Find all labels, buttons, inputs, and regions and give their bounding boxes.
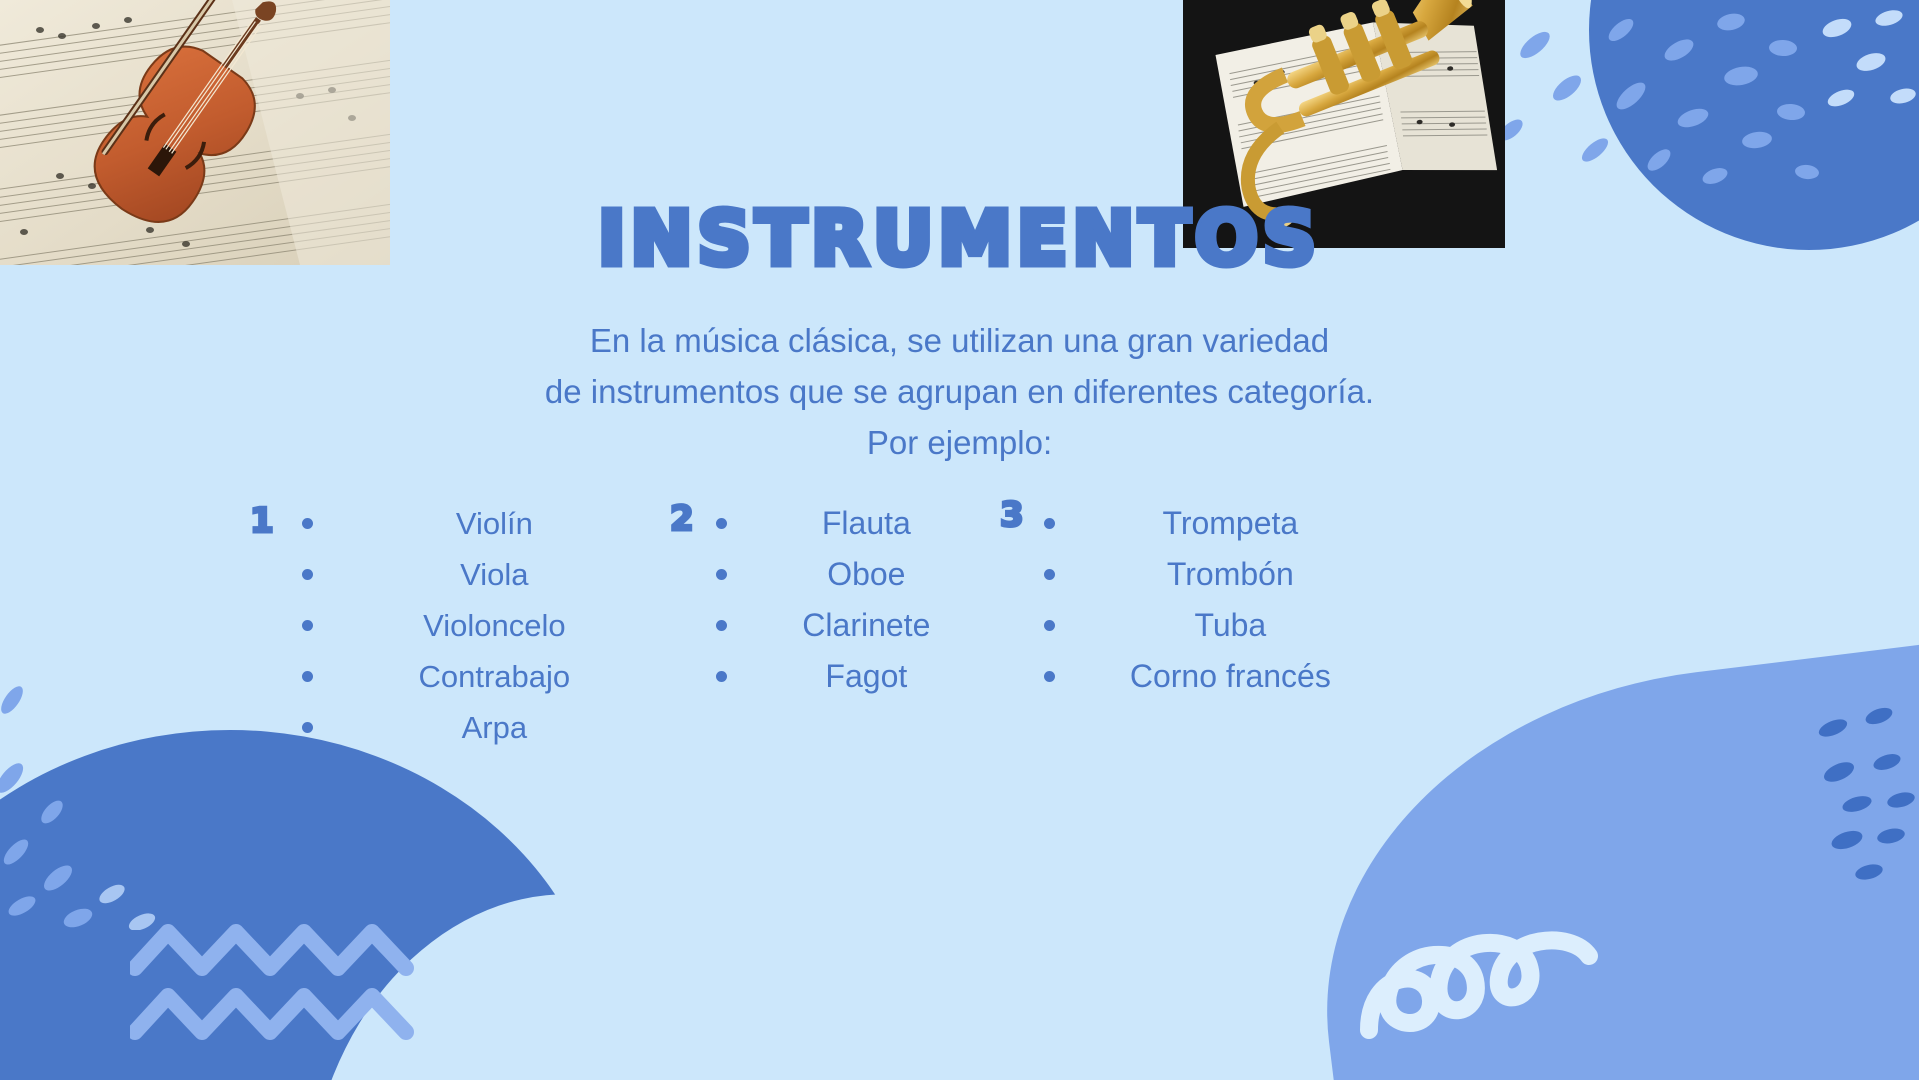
instrument-label: Violín xyxy=(319,498,670,549)
bullet-dot-icon xyxy=(1044,620,1055,631)
list-item: Arpa xyxy=(302,702,670,753)
bottom-right-loop-squiggle-decoration xyxy=(1359,870,1659,1050)
instrument-label: Flauta xyxy=(733,498,1000,549)
bullet-dot-icon xyxy=(716,518,727,529)
list-item: Flauta xyxy=(716,498,1000,549)
intro-paragraph: En la música clásica, se utilizan una gr… xyxy=(0,315,1919,468)
list-item: Trombón xyxy=(1044,549,1400,600)
bullet-dot-icon xyxy=(302,518,313,529)
list-item: Viola xyxy=(302,549,670,600)
instrument-label: Trompeta xyxy=(1061,498,1400,549)
bullet-dot-icon xyxy=(302,671,313,682)
bullet-dot-icon xyxy=(1044,671,1055,682)
instrument-list-3: Trompeta Trombón Tuba Corno francés xyxy=(1044,498,1400,702)
bottom-right-dark-wave-decoration xyxy=(1565,862,1919,1080)
bullet-dot-icon xyxy=(716,569,727,580)
bullet-dot-icon xyxy=(302,620,313,631)
instrument-label: Fagot xyxy=(733,651,1000,702)
instrument-label: Arpa xyxy=(319,702,670,753)
list-item: Fagot xyxy=(716,651,1000,702)
instrument-label: Tuba xyxy=(1061,600,1400,651)
page-title: INSTRUMENTOS xyxy=(0,196,1919,282)
instrument-column-2: 2 Flauta Oboe Clarinete Fagot xyxy=(670,498,1000,702)
column-number-3: 3 xyxy=(1000,498,1024,532)
instrument-list-2: Flauta Oboe Clarinete Fagot xyxy=(716,498,1000,702)
list-item: Violoncelo xyxy=(302,600,670,651)
bottom-left-zigzag-decoration xyxy=(130,920,430,1080)
list-item: Violín xyxy=(302,498,670,549)
intro-line-2: de instrumentos que se agrupan en difere… xyxy=(0,366,1919,417)
list-item: Contrabajo xyxy=(302,651,670,702)
bullet-dot-icon xyxy=(1044,569,1055,580)
instrument-column-1: 1 Violín Viola Violoncelo Contrabajo xyxy=(250,498,670,753)
bottom-center-zigzag-light-decoration xyxy=(1359,910,1659,1080)
bullet-dot-icon xyxy=(302,569,313,580)
bullet-dot-icon xyxy=(716,671,727,682)
slide-canvas: INSTRUMENTOS En la música clásica, se ut… xyxy=(0,0,1919,1080)
instrument-column-3: 3 Trompeta Trombón Tuba Corno francés xyxy=(1000,498,1400,702)
column-number-1: 1 xyxy=(250,498,274,538)
instrument-label: Trombón xyxy=(1061,549,1400,600)
instrument-list-1: Violín Viola Violoncelo Contrabajo Arpa xyxy=(302,498,670,753)
list-item: Tuba xyxy=(1044,600,1400,651)
bottom-left-dash-pattern-decoration xyxy=(0,660,180,930)
bullet-dot-icon xyxy=(302,722,313,733)
instrument-label: Contrabajo xyxy=(319,651,670,702)
instrument-label: Oboe xyxy=(733,549,1000,600)
bullet-dot-icon xyxy=(1044,518,1055,529)
column-number-2: 2 xyxy=(670,498,694,536)
bullet-dot-icon xyxy=(716,620,727,631)
instrument-label: Viola xyxy=(319,549,670,600)
list-item: Oboe xyxy=(716,549,1000,600)
intro-line-1: En la música clásica, se utilizan una gr… xyxy=(0,315,1919,366)
instrument-label: Violoncelo xyxy=(319,600,670,651)
instrument-label: Clarinete xyxy=(733,600,1000,651)
instrument-columns: 1 Violín Viola Violoncelo Contrabajo xyxy=(250,498,1680,788)
intro-line-3: Por ejemplo: xyxy=(0,417,1919,468)
bottom-left-light-wedge-decoration xyxy=(311,862,769,1080)
list-item: Corno francés xyxy=(1044,651,1400,702)
instrument-label: Corno francés xyxy=(1061,651,1400,702)
list-item: Trompeta xyxy=(1044,498,1400,549)
list-item: Clarinete xyxy=(716,600,1000,651)
